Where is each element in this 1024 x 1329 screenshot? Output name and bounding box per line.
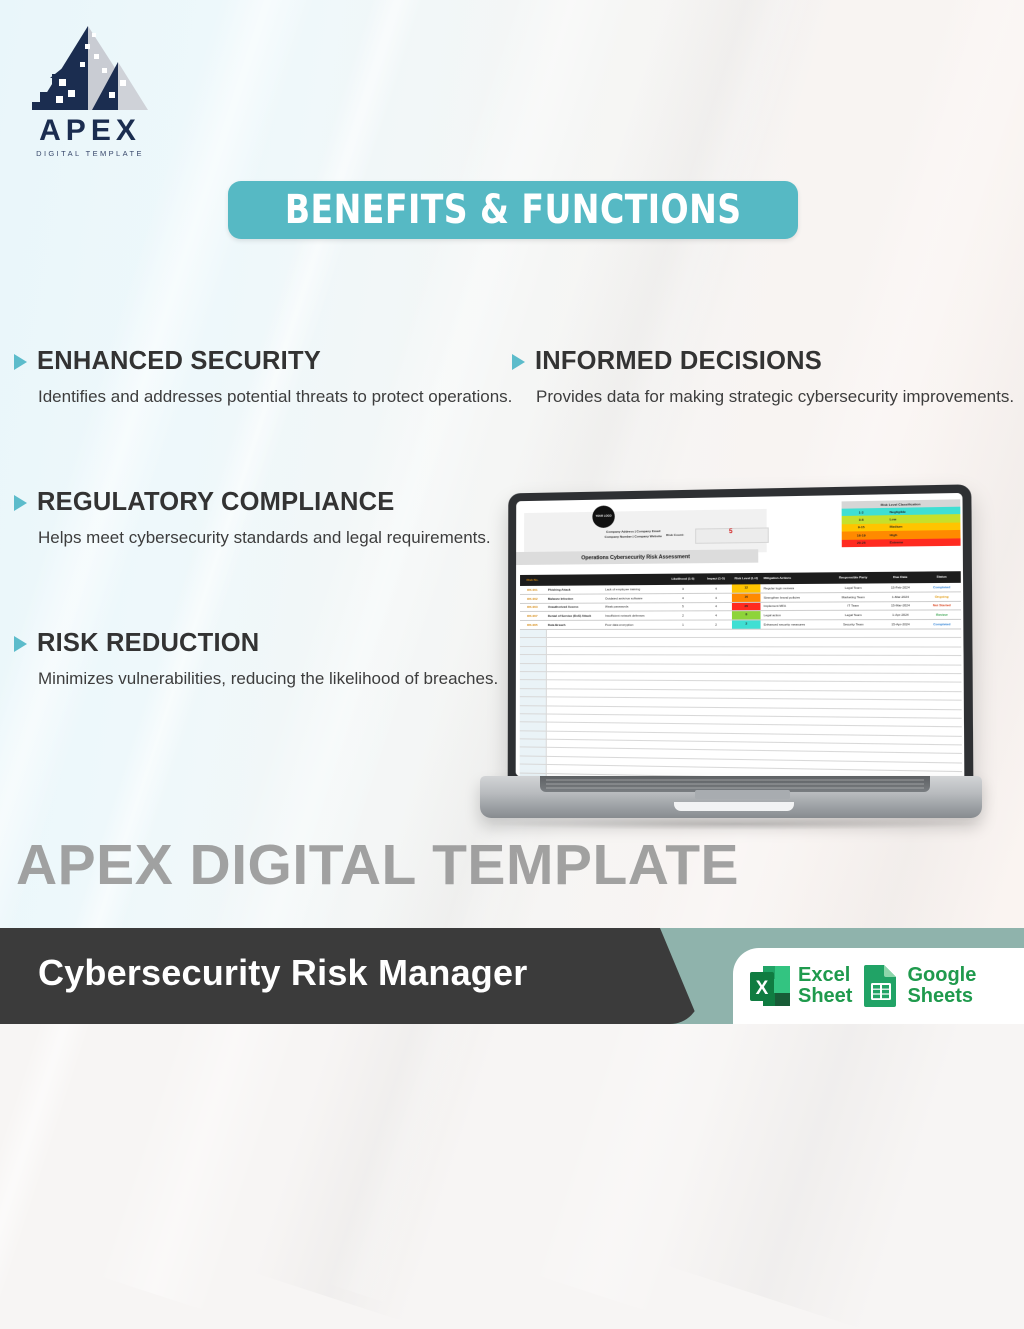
row-gutter: [520, 731, 547, 739]
product-title: Cybersecurity Risk Manager: [38, 952, 527, 994]
cell-mitigation: Enhanced security measures: [761, 622, 829, 626]
benefit-description: Minimizes vulnerabilities, reducing the …: [38, 667, 498, 690]
benefit-item-informed-decisions: INFORMED DECISIONS Provides data for mak…: [512, 347, 1014, 408]
cell-risk-level: 16: [732, 593, 760, 601]
logo-wordmark: APEX: [30, 116, 150, 146]
risk-count-value: 5: [695, 529, 767, 536]
format-badges-card: X Excel Sheet: [733, 948, 1024, 1024]
logo-tagline: DIGITAL TEMPLATE: [30, 149, 150, 158]
cell-mitigation: Legal action: [760, 613, 828, 617]
laptop-shadow: [492, 818, 982, 830]
col-risk-level: Risk Level (L×I): [732, 577, 760, 581]
row-gutter: [520, 647, 547, 654]
cell-mitigation: Regular login reviews: [760, 586, 828, 591]
triangle-bullet-icon: [14, 636, 27, 652]
cell-risk-no: RK-002: [520, 597, 545, 601]
laptop-base: [480, 776, 982, 818]
triangle-bullet-icon: [14, 495, 27, 511]
excel-label-line2: Sheet: [798, 985, 852, 1007]
benefit-item-enhanced-security: ENHANCED SECURITY Identifies and address…: [14, 347, 512, 408]
cell-party: Marketing Team: [828, 595, 878, 599]
row-gutter: [520, 630, 547, 637]
cell-party: Security Team: [828, 622, 878, 626]
benefit-description: Provides data for making strategic cyber…: [536, 385, 1014, 408]
cell-party: Legal Team: [828, 613, 878, 617]
legend-row: 20-25Extreme: [842, 538, 961, 547]
table-row[interactable]: RK-005Data BreachPoor data encryption122…: [520, 620, 961, 630]
cell-risk-no: RK-001: [520, 588, 545, 592]
cell-threat: Phishing Attack: [545, 587, 602, 591]
col-likelihood: Likelihood (1-5): [666, 577, 700, 581]
cell-threat: Denial of Service (DoS) Attack: [545, 614, 602, 618]
google-sheets-badge-label: Google Sheets: [907, 965, 976, 1007]
cell-status: Ongoing: [923, 594, 961, 598]
laptop-lid: YOUR LOGO Company Address | Company Emai…: [508, 484, 974, 792]
cell-status: Completed: [923, 622, 961, 626]
row-gutter: [520, 697, 547, 705]
legend-range: 1-2: [842, 510, 881, 515]
col-vulnerability: Vulnerability: [602, 578, 666, 582]
col-status: Status: [922, 575, 960, 579]
cell-risk-no: RK-005: [520, 623, 545, 627]
benefit-title: RISK REDUCTION: [37, 629, 259, 658]
cell-risk-level: 20: [732, 602, 760, 610]
col-due-date: Due Date: [878, 576, 922, 580]
legend-range: 3-8: [842, 518, 881, 523]
row-gutter: [520, 680, 547, 688]
col-threat: Threat: [545, 578, 602, 582]
cell-party: Legal Team: [828, 585, 878, 590]
cell-risk-level: 8: [732, 612, 760, 620]
spreadsheet[interactable]: YOUR LOGO Company Address | Company Emai…: [516, 493, 965, 785]
brand-logo: APEX DIGITAL TEMPLATE: [30, 22, 150, 158]
cell-impact: 4: [700, 605, 732, 609]
row-gutter: [520, 706, 547, 714]
legend-name: High: [881, 533, 897, 537]
cell-threat: Data Breach: [545, 623, 602, 627]
row-gutter: [520, 664, 547, 672]
benefit-description: Identifies and addresses potential threa…: [38, 385, 512, 408]
risk-level-legend: Risk Level Classification 1-2Negligible3…: [842, 499, 961, 547]
cell-vulnerability: Poor data encryption: [602, 623, 666, 627]
spreadsheet-title-bar: Operations Cybersecurity Risk Assessment: [516, 549, 758, 565]
cell-mitigation: Implement MFA: [760, 604, 828, 608]
row-gutter: [520, 689, 547, 697]
row-gutter: [520, 765, 547, 773]
cell-impact: 2: [700, 623, 732, 627]
risk-count-label: Risk Count:: [666, 533, 684, 537]
laptop-mockup: YOUR LOGO Company Address | Company Emai…: [472, 483, 1012, 833]
legend-name: Medium: [881, 525, 903, 530]
table-body: RK-001Phishing AttackLack of employee tr…: [520, 583, 961, 630]
cell-due-date: 15-Feb-2024: [878, 585, 922, 589]
row-gutter: [520, 672, 547, 680]
benefit-title: INFORMED DECISIONS: [535, 347, 822, 376]
cell-due-date: 1-Mar-2024: [878, 594, 922, 598]
cell-likelihood: 3: [666, 587, 700, 591]
cell-vulnerability: Lack of employee training: [602, 587, 666, 591]
google-sheets-icon: [862, 963, 900, 1009]
row-gutter: [520, 748, 547, 756]
cell-threat: Malware Infection: [545, 596, 602, 600]
row-gutter: [520, 756, 547, 764]
cell-impact: 4: [700, 614, 732, 618]
cell-impact: 4: [700, 595, 732, 599]
cell-threat: Unauthorized Access: [545, 605, 602, 609]
excel-icon: X: [749, 964, 791, 1008]
row-gutter: [520, 638, 547, 645]
cell-vulnerability: Weak passwords: [602, 605, 666, 609]
google-sheets-badge[interactable]: Google Sheets: [862, 963, 976, 1009]
legend-name: Low: [881, 517, 897, 521]
gs-label-line1: Google: [907, 964, 976, 986]
benefit-title: REGULATORY COMPLIANCE: [37, 488, 394, 517]
laptop-screen: YOUR LOGO Company Address | Company Emai…: [516, 493, 965, 785]
logo-placeholder-text: YOUR LOGO: [595, 515, 611, 518]
row-gutter: [520, 723, 547, 731]
trackpad: [695, 790, 790, 799]
row-gutter: [520, 655, 547, 662]
legend-rows: 1-2Negligible3-8Low9-15Medium16-19High20…: [842, 507, 961, 547]
legend-name: Extreme: [881, 540, 903, 544]
benefit-item-risk-reduction: RISK REDUCTION Minimizes vulnerabilities…: [14, 629, 498, 690]
col-risk-no: Risk No.: [520, 579, 545, 583]
cell-due-date: 15-Apr-2024: [878, 622, 922, 626]
cell-due-date: 1-Apr-2024: [878, 613, 922, 617]
benefit-title: ENHANCED SECURITY: [37, 347, 321, 376]
empty-rows: [520, 629, 963, 784]
cell-impact: 4: [700, 586, 732, 590]
spreadsheet-title-text: Operations Cybersecurity Risk Assessment: [581, 554, 690, 561]
legend-range: 16-19: [842, 533, 881, 538]
cell-status: Review: [923, 613, 961, 617]
excel-label-line1: Excel: [798, 964, 850, 986]
legend-range: 20-25: [842, 541, 881, 546]
company-contact-lines: Company Address | Company Email Company …: [552, 528, 716, 540]
cell-likelihood: 1: [666, 623, 700, 627]
benefit-description: Helps meet cybersecurity standards and l…: [38, 526, 491, 549]
risk-table[interactable]: Risk No. Threat Vulnerability Likelihood…: [520, 571, 962, 785]
excel-badge-label: Excel Sheet: [798, 965, 852, 1007]
row-gutter: [520, 714, 547, 722]
cell-risk-no: RK-007: [520, 614, 545, 618]
legend-name: Negligible: [881, 509, 906, 514]
cell-risk-no: RK-003: [520, 605, 545, 609]
benefit-item-regulatory-compliance: REGULATORY COMPLIANCE Helps meet cyberse…: [14, 488, 491, 549]
section-title-text: BENEFITS & FUNCTIONS: [285, 190, 742, 230]
footer-bar: Cybersecurity Risk Manager X Excel Sheet: [0, 928, 1024, 1024]
triangle-bullet-icon: [14, 354, 27, 370]
row-gutter: [520, 739, 547, 747]
cell-risk-level: 2: [732, 621, 760, 629]
legend-range: 9-15: [842, 525, 881, 530]
gs-label-line2: Sheets: [907, 985, 973, 1007]
col-party: Responsible Party: [828, 576, 878, 580]
cell-party: IT Team: [828, 604, 878, 608]
col-mitigation: Mitigation Actions: [760, 576, 828, 580]
cell-status: Completed: [922, 585, 960, 589]
cell-likelihood: 5: [666, 605, 700, 609]
cell-vulnerability: Outdated antivirus software: [602, 596, 666, 600]
cell-likelihood: 2: [666, 614, 700, 618]
triangle-bullet-icon: [512, 354, 525, 370]
empty-row[interactable]: [520, 629, 961, 638]
pyramid-buildings-icon: [30, 22, 150, 114]
cell-likelihood: 4: [666, 596, 700, 600]
watermark-text: APEX DIGITAL TEMPLATE: [16, 832, 1008, 898]
base-notch: [674, 802, 794, 811]
col-impact: Impact (1-5): [700, 577, 732, 581]
cell-mitigation: Strengthen brand policies: [760, 595, 828, 600]
svg-text:X: X: [756, 978, 769, 999]
cell-risk-level: 12: [732, 584, 760, 592]
cell-vulnerability: Insufficient network defenses: [602, 614, 666, 618]
cell-status: Not Started: [923, 604, 961, 608]
cell-due-date: 15-Mar-2024: [878, 604, 922, 608]
section-title-banner: BENEFITS & FUNCTIONS: [228, 181, 798, 239]
excel-badge[interactable]: X Excel Sheet: [749, 964, 852, 1008]
